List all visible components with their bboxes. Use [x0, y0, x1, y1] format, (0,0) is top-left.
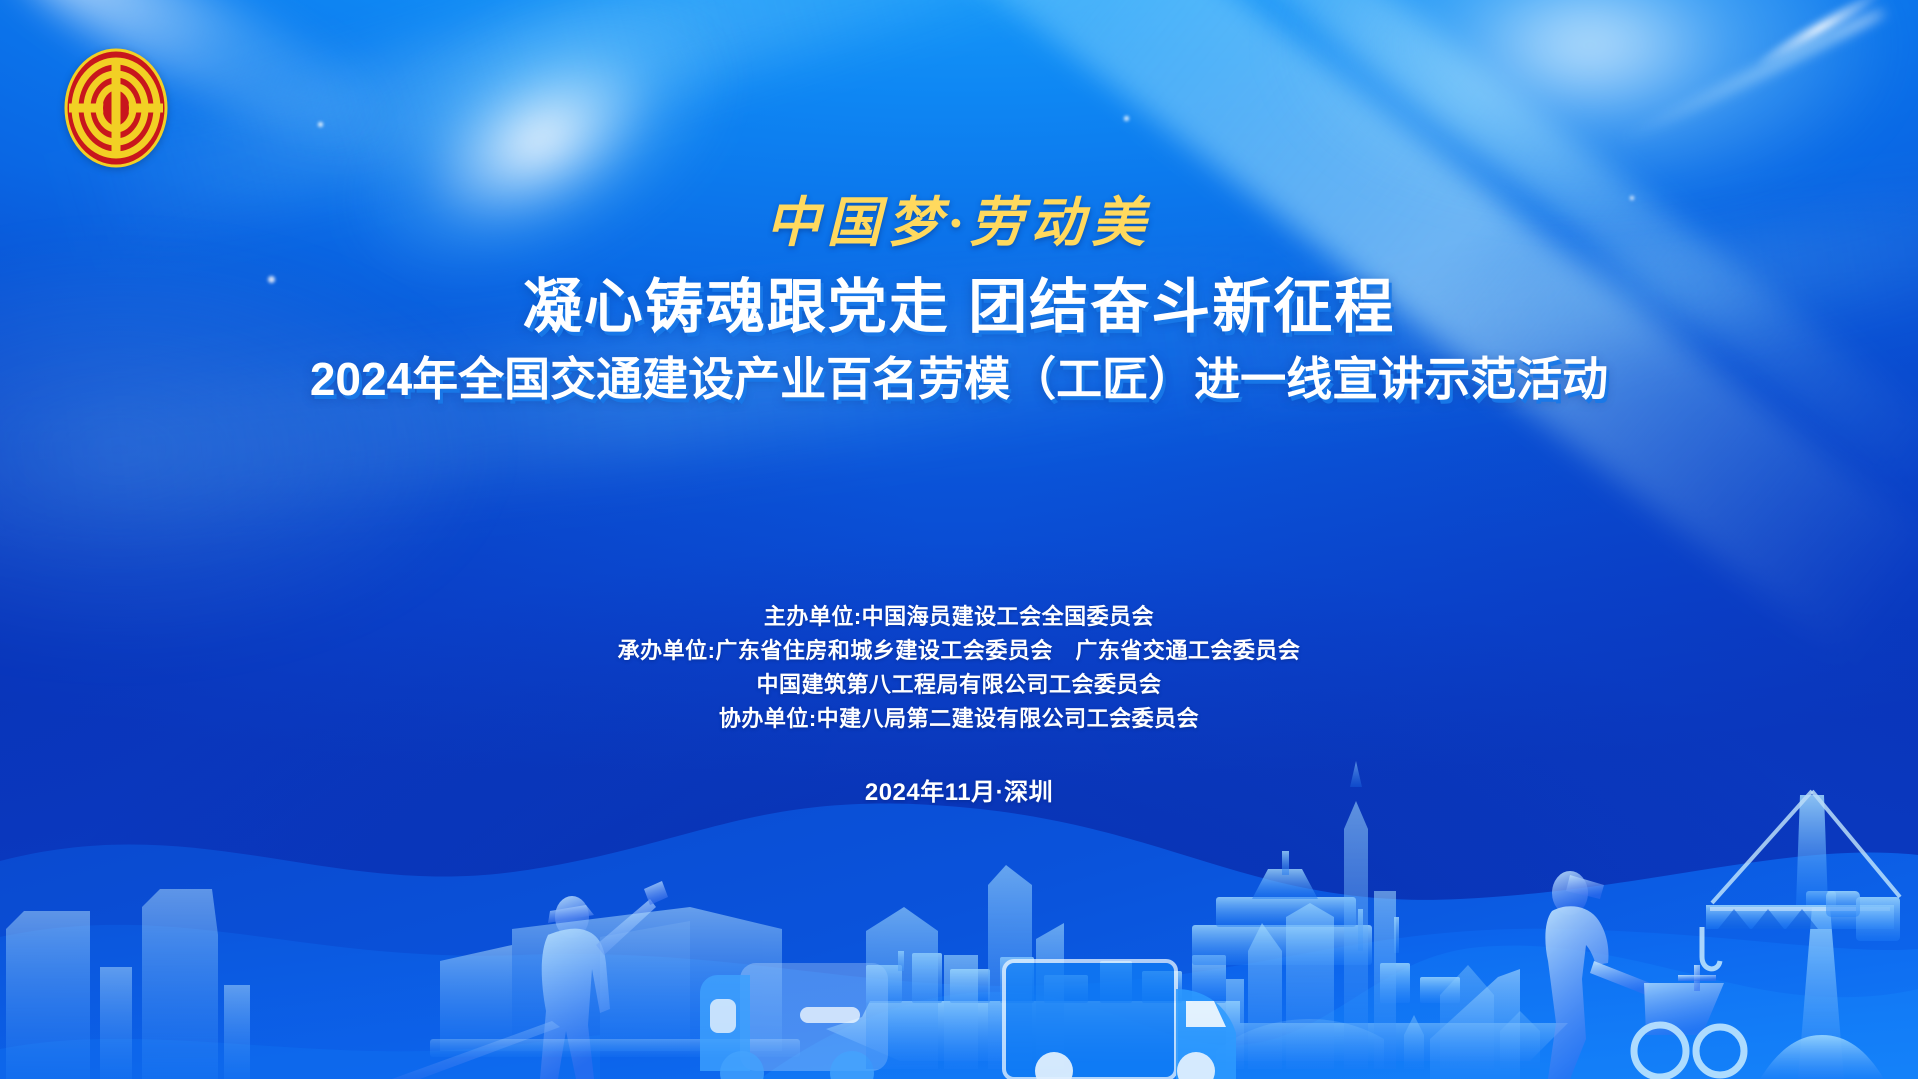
delivery-truck-icon — [700, 963, 888, 1079]
event-backdrop-poster: 中国梦·劳动美 凝心铸魂跟党走 团结奋斗新征程 2024年全国交通建设产业百名劳… — [0, 0, 1918, 1079]
organizer-line: 主办单位:中国海员建设工会全国委员会 — [0, 600, 1918, 634]
page-title: 凝心铸魂跟党走 团结奋斗新征程 — [0, 276, 1918, 340]
tower-crane-icon — [1702, 791, 1900, 1079]
date-location-label: 2024年11月·深圳 — [0, 772, 1918, 807]
organizer-line: 承办单位:广东省住房和城乡建设工会委员会 广东省交通工会委员会 — [0, 634, 1918, 668]
page-subtitle: 2024年全国交通建设产业百名劳模（工匠）进一线宣讲示范活动 — [0, 354, 1918, 405]
organizer-line: 协办单位:中建八局第二建设有限公司工会委员会 — [0, 702, 1918, 736]
acftu-union-emblem — [63, 47, 169, 169]
skyscraper-cluster-icon — [6, 889, 250, 1079]
poster-title-block: 中国梦·劳动美 凝心铸魂跟党走 团结奋斗新征程 2024年全国交通建设产业百名劳… — [0, 196, 1918, 404]
organizer-block: 主办单位:中国海员建设工会全国委员会 承办单位:广东省住房和城乡建设工会委员会 … — [0, 600, 1918, 736]
organizer-line: 中国建筑第八工程局有限公司工会委员会 — [0, 668, 1918, 702]
calligraphy-slogan: 中国梦·劳动美 — [0, 196, 1918, 250]
